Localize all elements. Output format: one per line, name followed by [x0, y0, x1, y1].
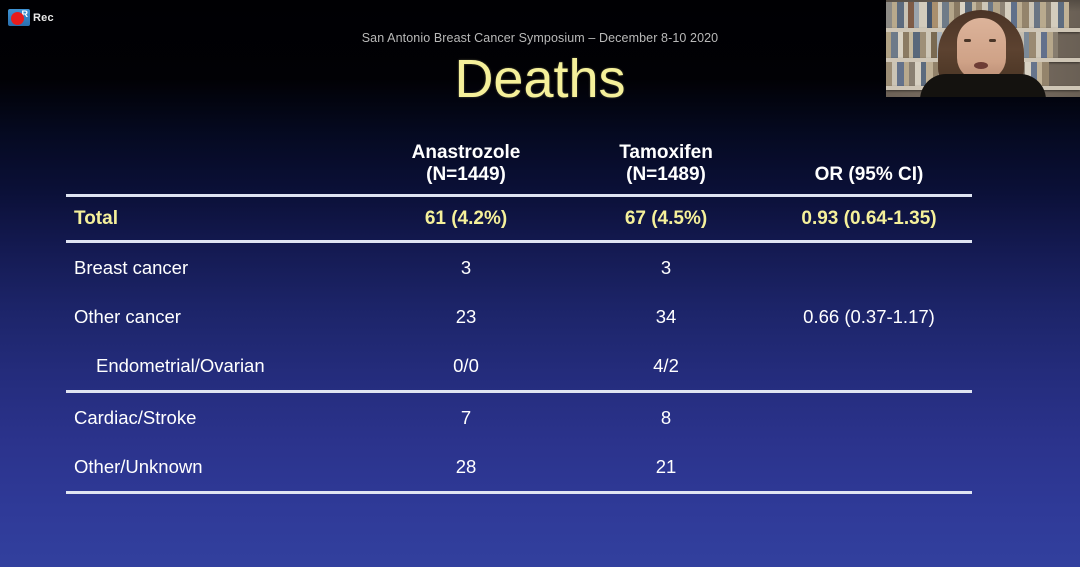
cell-total-tamoxifen: 67 (4.5%)	[566, 196, 766, 242]
webcam-person-eye-right	[989, 39, 996, 42]
cell-breast-cancer-or	[766, 242, 972, 293]
table-row-endometrial-ovarian: Endometrial/Ovarian 0/0 4/2	[66, 341, 972, 392]
cell-other-cancer-tamoxifen: 34	[566, 292, 766, 341]
webcam-person-eye-left	[964, 39, 971, 42]
column-header-or: OR (95% CI)	[766, 142, 972, 196]
record-dot-icon	[11, 12, 24, 25]
cell-total-or: 0.93 (0.64-1.35)	[766, 196, 972, 242]
cell-other-cancer-or: 0.66 (0.37-1.17)	[766, 292, 972, 341]
cell-other-cancer-anastrozole: 23	[366, 292, 566, 341]
row-label-other-unknown: Other/Unknown	[66, 442, 366, 493]
table-row-cardiac-stroke: Cardiac/Stroke 7 8	[66, 392, 972, 443]
row-label-total: Total	[66, 196, 366, 242]
column-header-anastrozole-n: (N=1449)	[366, 164, 566, 186]
cell-total-anastrozole: 61 (4.2%)	[366, 196, 566, 242]
row-label-endometrial-ovarian: Endometrial/Ovarian	[66, 341, 366, 392]
cell-breast-cancer-anastrozole: 3	[366, 242, 566, 293]
presentation-screen: R Rec	[0, 0, 1080, 567]
column-header-label	[66, 142, 366, 196]
column-header-anastrozole: Anastrozole (N=1449)	[366, 142, 566, 196]
table-row-other-unknown: Other/Unknown 28 21	[66, 442, 972, 493]
table-row-total: Total 61 (4.2%) 67 (4.5%) 0.93 (0.64-1.3…	[66, 196, 972, 242]
column-header-tamoxifen-name: Tamoxifen	[619, 142, 713, 163]
webcam-person-torso	[920, 74, 1046, 97]
cell-endometrial-ovarian-anastrozole: 0/0	[366, 341, 566, 392]
table-row-breast-cancer: Breast cancer 3 3	[66, 242, 972, 293]
table-row-other-cancer: Other cancer 23 34 0.66 (0.37-1.17)	[66, 292, 972, 341]
webcam-overlay[interactable]	[886, 0, 1080, 97]
deaths-table-container: Anastrozole (N=1449) Tamoxifen (N=1489) …	[66, 142, 972, 494]
row-label-cardiac-stroke: Cardiac/Stroke	[66, 392, 366, 443]
cell-cardiac-stroke-tamoxifen: 8	[566, 392, 766, 443]
record-icon: R	[8, 9, 30, 26]
cell-other-unknown-or	[766, 442, 972, 493]
cell-cardiac-stroke-or	[766, 392, 972, 443]
row-label-breast-cancer: Breast cancer	[66, 242, 366, 293]
cell-cardiac-stroke-anastrozole: 7	[366, 392, 566, 443]
webcam-person-face	[957, 18, 1006, 80]
cell-endometrial-ovarian-or	[766, 341, 972, 392]
cell-other-unknown-anastrozole: 28	[366, 442, 566, 493]
column-header-tamoxifen-n: (N=1489)	[566, 164, 766, 186]
column-header-anastrozole-name: Anastrozole	[412, 142, 521, 163]
cell-breast-cancer-tamoxifen: 3	[566, 242, 766, 293]
recording-indicator[interactable]: R Rec	[8, 9, 54, 26]
recording-label: Rec	[33, 12, 54, 24]
table-header-row: Anastrozole (N=1449) Tamoxifen (N=1489) …	[66, 142, 972, 196]
row-label-other-cancer: Other cancer	[66, 292, 366, 341]
deaths-table: Anastrozole (N=1449) Tamoxifen (N=1489) …	[66, 142, 972, 494]
column-header-tamoxifen: Tamoxifen (N=1489)	[566, 142, 766, 196]
webcam-person-mouth	[974, 62, 988, 69]
cell-other-unknown-tamoxifen: 21	[566, 442, 766, 493]
cell-endometrial-ovarian-tamoxifen: 4/2	[566, 341, 766, 392]
